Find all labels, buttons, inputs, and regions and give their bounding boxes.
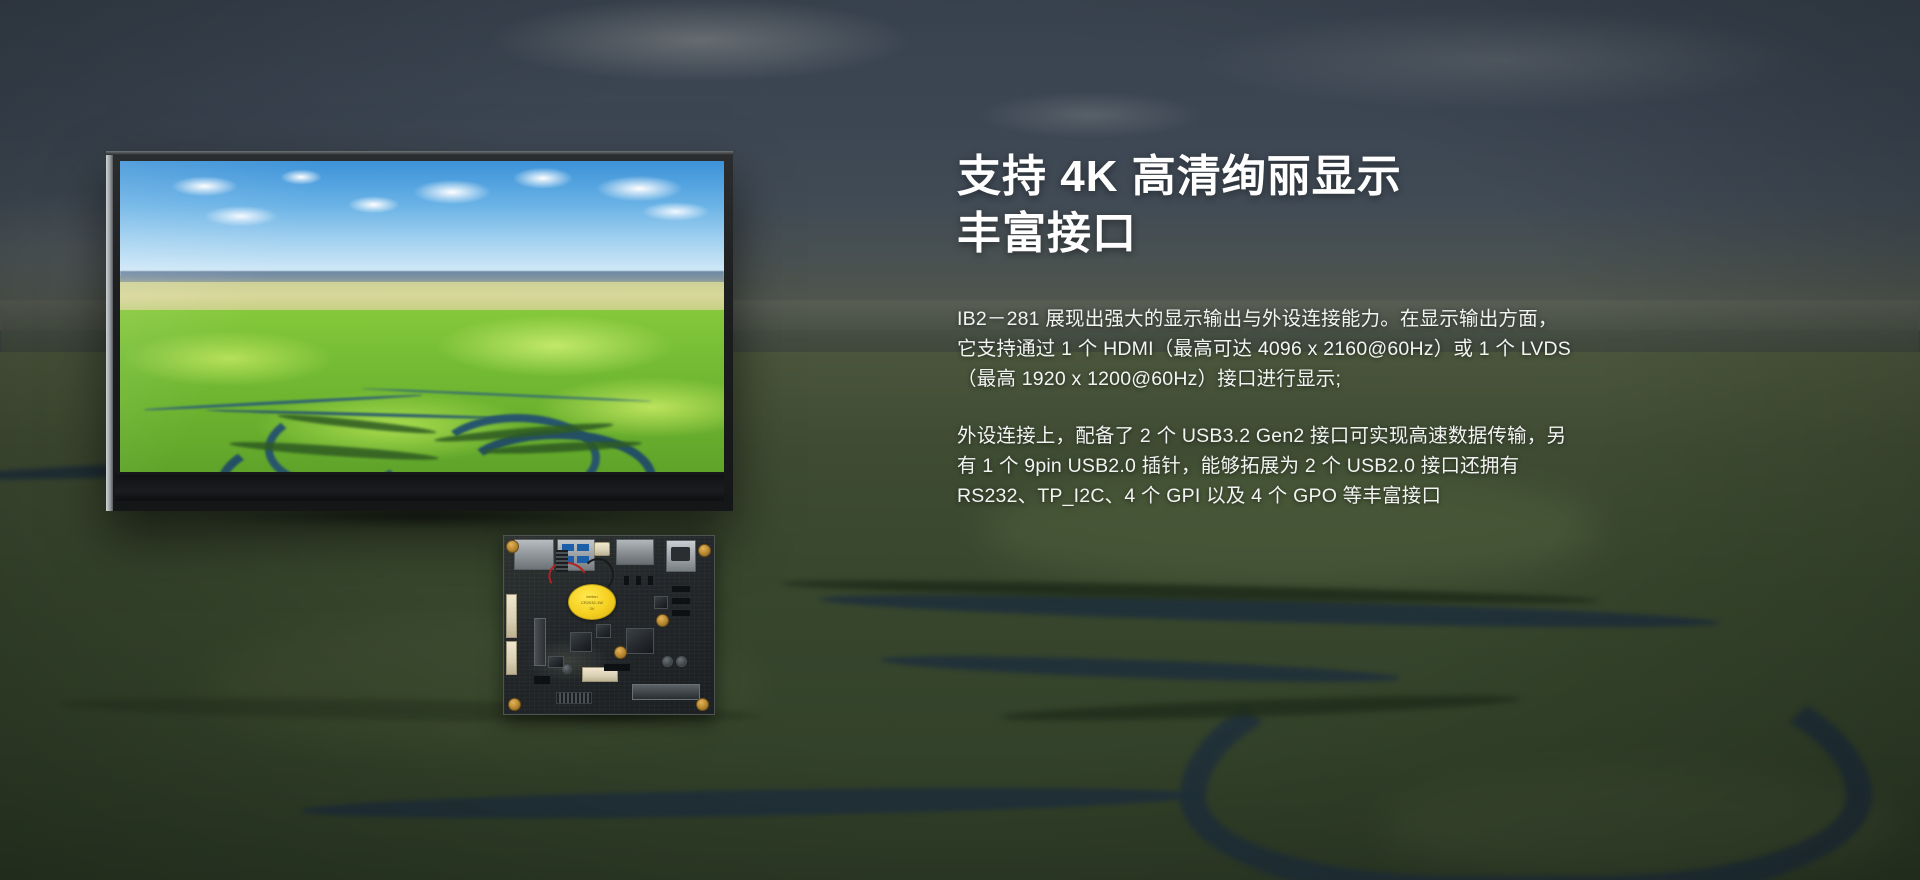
memory-chip	[570, 632, 592, 652]
headline-line-2: 丰富接口	[957, 205, 1597, 262]
capacitor	[562, 664, 572, 674]
smd-component	[534, 676, 550, 684]
smd-component	[648, 576, 653, 585]
type-c-port	[666, 540, 696, 572]
mounting-screw	[506, 540, 519, 553]
smd-component	[672, 610, 690, 616]
edp-connector	[506, 641, 517, 675]
tv-lower-bezel	[115, 475, 724, 501]
screen-sky	[120, 161, 724, 276]
type-c-opening	[671, 547, 690, 561]
screen-river	[144, 394, 422, 411]
battery-label-line1: kerton	[569, 594, 615, 599]
smd-component	[624, 576, 629, 585]
ic-chip	[596, 624, 611, 638]
expansion-slot	[632, 684, 700, 700]
mounting-screw	[656, 614, 669, 627]
screen-grassland	[120, 310, 724, 472]
paragraph-display-output: IB2－281 展现出强大的显示输出与外设连接能力。在显示输出方面，它支持通过 …	[957, 304, 1577, 394]
smd-component	[604, 664, 630, 671]
headline: 支持 4K 高清绚丽显示 丰富接口	[957, 148, 1597, 262]
hero-banner: kerton CR2032-1W 3V	[0, 0, 1920, 880]
text-panel: 支持 4K 高清绚丽显示 丰富接口 IB2－281 展现出强大的显示输出与外设连…	[957, 148, 1597, 511]
pin-header	[556, 692, 592, 704]
tv-top-edge-trim	[106, 151, 733, 155]
battery-label-line2: CR2032-1W	[569, 600, 615, 605]
white-connector	[594, 542, 610, 556]
coin-battery: kerton CR2032-1W 3V	[568, 584, 616, 620]
tv-left-edge-trim	[106, 151, 113, 511]
hdmi-port	[616, 539, 654, 565]
smd-component	[672, 586, 690, 592]
usb-slot	[577, 544, 589, 551]
circuit-board: kerton CR2032-1W 3V	[503, 535, 715, 715]
tv-screen	[120, 161, 724, 472]
smd-component	[672, 598, 690, 604]
card-slot	[534, 618, 546, 666]
pin-header	[556, 550, 568, 572]
body-copy: IB2－281 展现出强大的显示输出与外设连接能力。在显示输出方面，它支持通过 …	[957, 304, 1597, 511]
mounting-screw	[614, 646, 627, 659]
screen-plain	[120, 282, 724, 313]
capacitor	[662, 656, 673, 667]
mounting-screw	[698, 544, 711, 557]
tv-display	[106, 151, 733, 511]
headline-line-1: 支持 4K 高清绚丽显示	[957, 148, 1597, 205]
ic-chip	[654, 596, 668, 609]
mounting-screw	[508, 698, 521, 711]
mounting-screw	[696, 698, 709, 711]
soc-chip	[626, 628, 654, 654]
rj45-port	[514, 539, 554, 570]
lvds-connector	[506, 594, 517, 638]
battery-label-line3: 3V	[569, 606, 615, 611]
capacitor	[676, 656, 687, 667]
paragraph-peripheral-io: 外设连接上，配备了 2 个 USB3.2 Gen2 接口可实现高速数据传输，另有…	[957, 421, 1577, 511]
smd-component	[636, 576, 641, 585]
